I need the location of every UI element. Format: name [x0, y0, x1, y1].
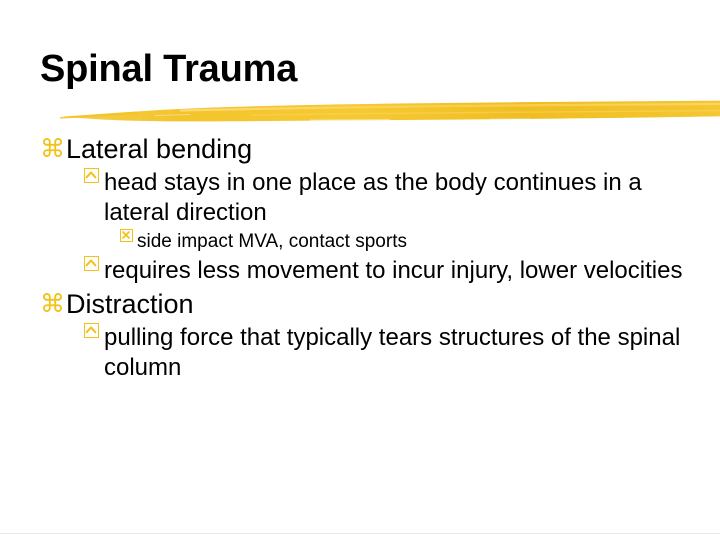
bullet-level3: side impact MVA, contact sports — [0, 229, 720, 255]
bullet-text: head stays in one place as the body cont… — [104, 168, 704, 228]
bullet-level2: pulling force that typically tears struc… — [0, 323, 720, 383]
content-body: ⌘ Lateral bending head stays in one plac… — [0, 132, 720, 384]
footer-divider — [0, 533, 720, 534]
bullet-text: pulling force that typically tears struc… — [104, 323, 704, 383]
command-glyph-icon: ⌘ — [40, 132, 66, 166]
bullet-text: requires less movement to incur injury, … — [104, 256, 682, 286]
bullet-text: Distraction — [66, 287, 194, 321]
bullet-level1: ⌘ Distraction — [0, 287, 720, 321]
brush-underline-decoration — [60, 96, 720, 130]
bullet-level2: requires less movement to incur injury, … — [0, 256, 720, 286]
bullet-level1: ⌘ Lateral bending — [0, 132, 720, 166]
bullet-text: side impact MVA, contact sports — [137, 229, 407, 255]
slide-canvas: Spinal Trauma — [0, 0, 720, 540]
box-x-glyph-icon — [120, 229, 137, 242]
box-chevron-glyph-icon — [84, 323, 104, 338]
bullet-text: Lateral bending — [66, 132, 252, 166]
title-block: Spinal Trauma — [40, 48, 700, 98]
command-glyph-icon: ⌘ — [40, 287, 66, 321]
page-title: Spinal Trauma — [40, 48, 700, 90]
box-chevron-glyph-icon — [84, 256, 104, 271]
box-chevron-glyph-icon — [84, 168, 104, 183]
bullet-level2: head stays in one place as the body cont… — [0, 168, 720, 228]
